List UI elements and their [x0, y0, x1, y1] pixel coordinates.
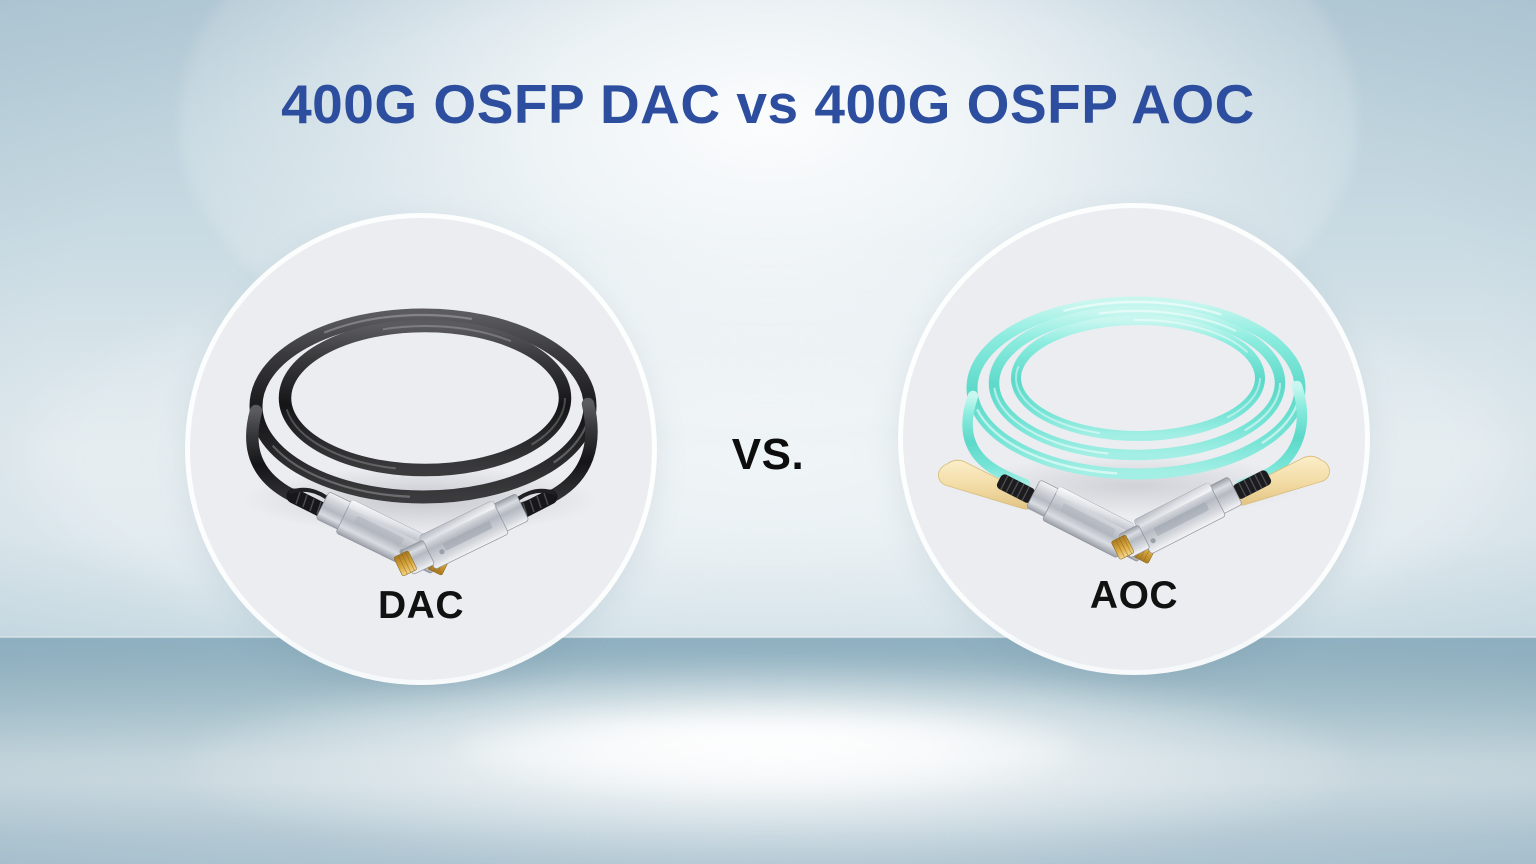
versus-label: VS.: [668, 430, 868, 480]
background-horizon-line: [0, 636, 1536, 639]
comparison-panel-dac[interactable]: DAC: [190, 218, 652, 680]
aoc-cable-illustration: [903, 268, 1365, 598]
dac-cable-illustration: [190, 278, 652, 608]
poster-canvas: 400G OSFP DAC vs 400G OSFP AOC: [0, 0, 1536, 864]
comparison-panel-aoc[interactable]: AOC: [903, 208, 1365, 670]
panel-label-aoc: AOC: [903, 574, 1365, 618]
background-floor-glow-core: [458, 712, 1078, 790]
panel-label-dac: DAC: [190, 584, 652, 628]
page-title: 400G OSFP DAC vs 400G OSFP AOC: [0, 72, 1536, 136]
